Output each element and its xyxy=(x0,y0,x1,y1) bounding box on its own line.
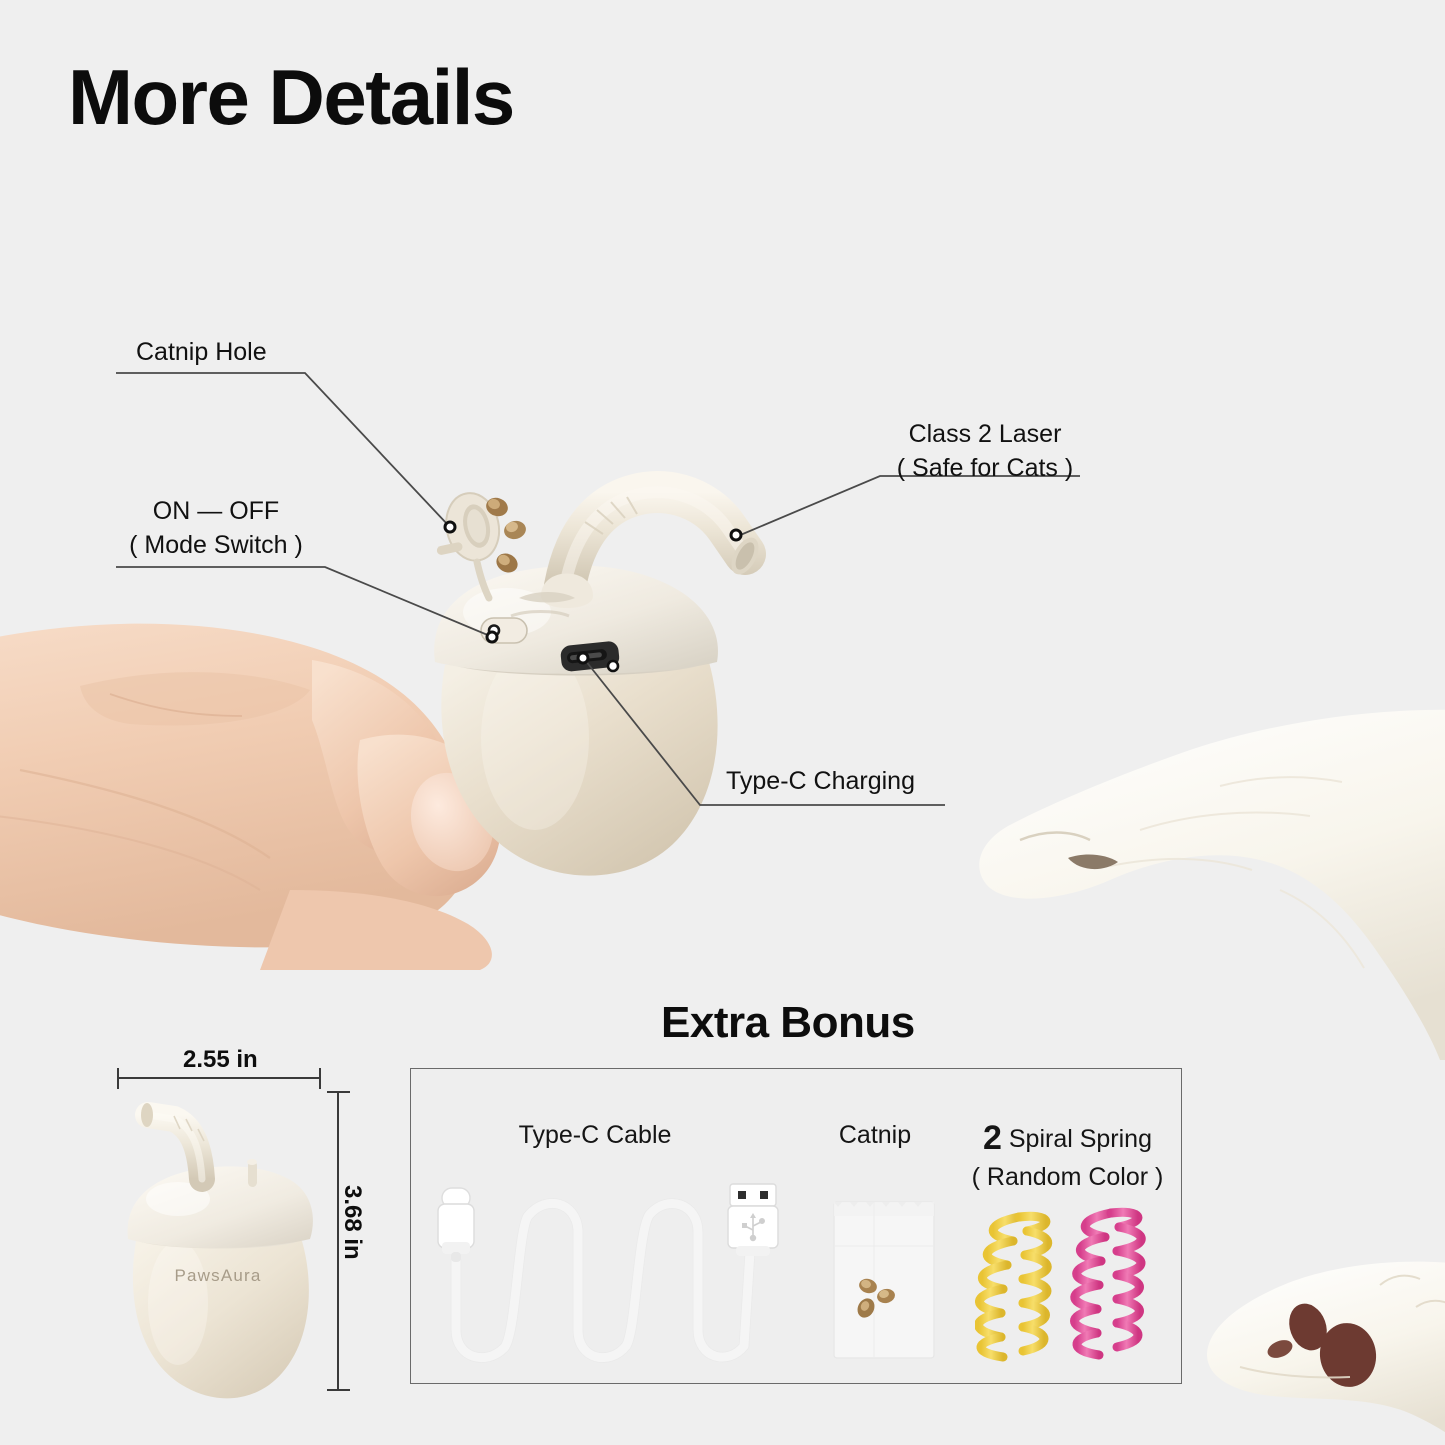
spring-sublabel: ( Random Color ) xyxy=(960,1161,1175,1194)
bonus-label-catnip: Catnip xyxy=(800,1119,950,1152)
callout-label-type-c: Type-C Charging xyxy=(726,765,915,799)
product-device-dimension-view: PawsAura xyxy=(100,1085,330,1410)
spring-pink xyxy=(1075,1212,1142,1355)
catnip-label: Catnip xyxy=(839,1121,911,1149)
dimension-width-label: 2.55 in xyxy=(183,1046,258,1074)
catnip-bag-graphic xyxy=(822,1190,948,1370)
type-c-cable-graphic xyxy=(420,1180,800,1380)
bonus-label-type-c-cable: Type-C Cable xyxy=(420,1119,770,1152)
cat-paw-lower xyxy=(1180,1255,1445,1445)
spiral-springs-graphic xyxy=(975,1195,1160,1370)
spring-count: 2 xyxy=(983,1119,1002,1157)
brand-logo-text: PawsAura xyxy=(174,1266,261,1285)
mode-switch-text-line1: ON — OFF xyxy=(116,495,316,529)
spring-yellow xyxy=(979,1216,1048,1357)
dimension-height-label: 3.68 in xyxy=(338,1185,366,1260)
spring-label: Spiral Spring xyxy=(1009,1125,1152,1153)
bonus-label-spiral-spring: 2 Spiral Spring ( Random Color ) xyxy=(960,1116,1175,1194)
type-c-text: Type-C Charging xyxy=(726,765,915,799)
catnip-hole-text: Catnip Hole xyxy=(136,336,267,370)
callout-label-laser: Class 2 Laser ( Safe for Cats ) xyxy=(880,418,1090,485)
laser-text-line2: ( Safe for Cats ) xyxy=(880,452,1090,486)
usb-c-icon xyxy=(438,1188,474,1262)
laser-text-line1: Class 2 Laser xyxy=(880,418,1090,452)
cat-paw-upper xyxy=(960,690,1445,1060)
callout-label-mode-switch: ON — OFF ( Mode Switch ) xyxy=(116,495,316,562)
extra-bonus-heading: Extra Bonus xyxy=(661,998,915,1048)
type-c-cable-label: Type-C Cable xyxy=(519,1121,672,1149)
usb-a-icon xyxy=(728,1184,778,1256)
product-device-main xyxy=(415,470,775,910)
callout-label-catnip-hole: Catnip Hole xyxy=(136,336,267,370)
product-detail-page: More Details xyxy=(0,0,1445,1445)
mode-switch-text-line2: ( Mode Switch ) xyxy=(116,529,316,563)
page-title: More Details xyxy=(68,58,514,136)
